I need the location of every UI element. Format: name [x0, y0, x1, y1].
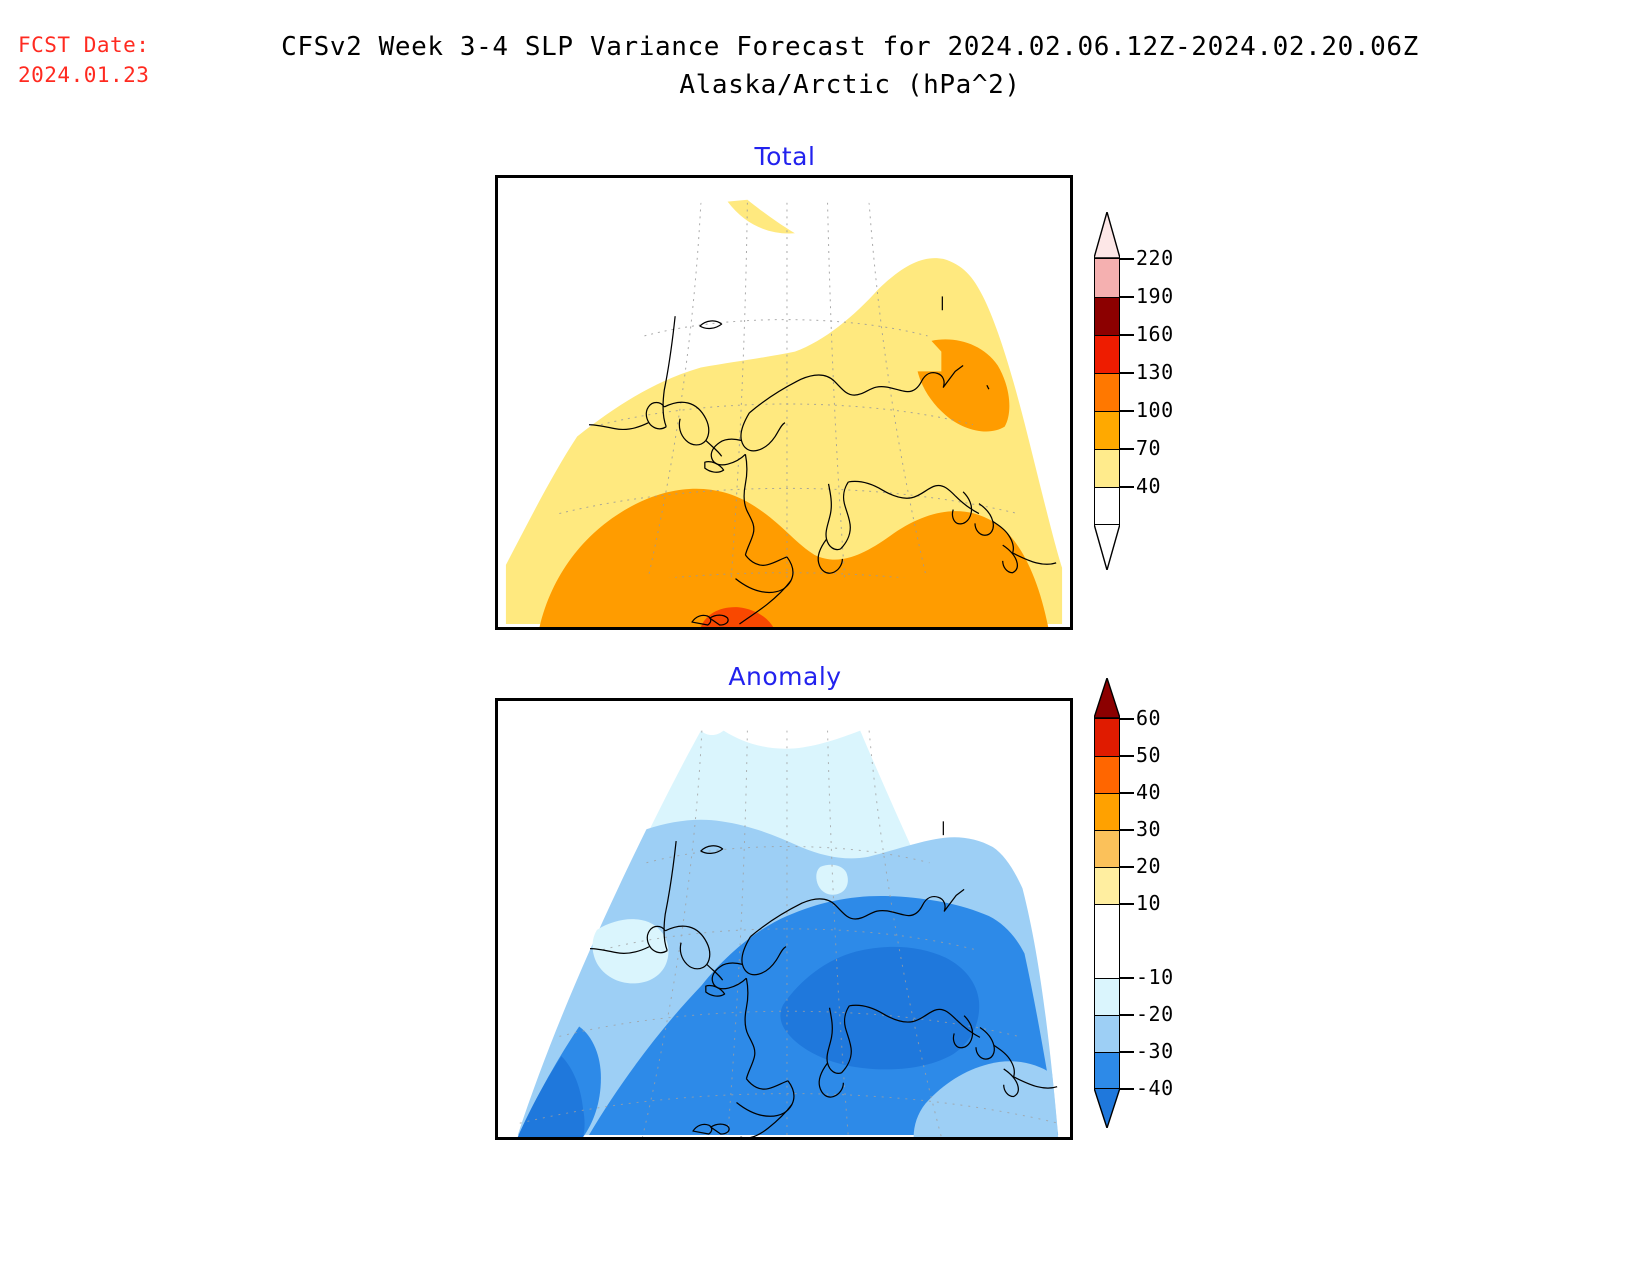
- colorbar-anomaly-label-m10: -10: [1136, 967, 1174, 987]
- colorbar-total-tick-100: [1120, 410, 1134, 412]
- colorbar-total-seg-40-70: [1095, 449, 1119, 487]
- map-total-svg: [498, 178, 1070, 627]
- colorbar-anomaly-label-40: 40: [1136, 782, 1161, 802]
- colorbar-total-tick-190: [1120, 296, 1134, 298]
- forecast-date-label: FCST Date:: [18, 30, 158, 60]
- colorbar-total-label-100: 100: [1136, 400, 1174, 420]
- title-line-1: CFSv2 Week 3-4 SLP Variance Forecast for…: [160, 28, 1540, 66]
- colorbar-anomaly-seg-m20-m10: [1095, 978, 1119, 1015]
- colorbar-anomaly-extend-low: [1094, 1088, 1120, 1128]
- colorbar-anomaly-seg-m40-m30: [1095, 1052, 1119, 1089]
- colorbar-anomaly-seg-m10-10: [1095, 904, 1119, 978]
- colorbar-total-tick-220: [1120, 258, 1134, 260]
- colorbar-anomaly-tick-50: [1120, 755, 1134, 757]
- panel-title-anomaly: Anomaly: [495, 662, 1075, 691]
- colorbar-total-label-70: 70: [1136, 438, 1161, 458]
- colorbar-total-label-40: 40: [1136, 476, 1161, 496]
- forecast-date-value: 2024.01.23: [18, 60, 158, 90]
- colorbar-total-seg-130-160: [1095, 335, 1119, 373]
- map-panel-anomaly: [495, 698, 1073, 1140]
- colorbar-anomaly-tick-m20: [1120, 1014, 1134, 1016]
- colorbar-anomaly-label-60: 60: [1136, 708, 1161, 728]
- colorbar-total-extend-low: [1094, 524, 1120, 570]
- colorbar-anomaly-label-30: 30: [1136, 819, 1161, 839]
- colorbar-anomaly-seg-20-30: [1095, 830, 1119, 867]
- colorbar-total-tick-40: [1120, 486, 1134, 488]
- colorbar-anomaly-label-m30: -30: [1136, 1041, 1174, 1061]
- colorbar-anomaly-label-m40: -40: [1136, 1078, 1174, 1098]
- colorbar-total-label-190: 190: [1136, 286, 1174, 306]
- colorbar-total-seg-190-220: [1095, 259, 1119, 297]
- colorbar-anomaly-seg-10-20: [1095, 867, 1119, 904]
- colorbar-total-seg-70-100: [1095, 411, 1119, 449]
- colorbar-anomaly-tick-m30: [1120, 1051, 1134, 1053]
- colorbar-anomaly-seg-40-50: [1095, 756, 1119, 793]
- colorbar-total-tick-130: [1120, 372, 1134, 374]
- map-panel-total: [495, 175, 1073, 630]
- forecast-date-block: FCST Date: 2024.01.23: [18, 30, 158, 90]
- colorbar-total-seg-below-40: [1095, 487, 1119, 525]
- colorbar-total-label-220: 220: [1136, 248, 1174, 268]
- title-line-2: Alaska/Arctic (hPa^2): [160, 66, 1540, 104]
- colorbar-anomaly-tick-60: [1120, 718, 1134, 720]
- panel-title-total: Total: [495, 142, 1075, 171]
- colorbar-anomaly-seg-50-60: [1095, 719, 1119, 756]
- colorbar-total-seg-100-130: [1095, 373, 1119, 411]
- colorbar-total-tick-70: [1120, 448, 1134, 450]
- colorbar-anomaly-tick-20: [1120, 866, 1134, 868]
- colorbar-total-label-130: 130: [1136, 362, 1174, 382]
- colorbar-total-tick-160: [1120, 334, 1134, 336]
- colorbar-anomaly-tick-30: [1120, 829, 1134, 831]
- colorbar-anomaly-label-10: 10: [1136, 893, 1161, 913]
- map-anomaly-svg: [498, 701, 1070, 1137]
- colorbar-anomaly-bar: [1094, 718, 1120, 1088]
- colorbar-total-bar: [1094, 258, 1120, 524]
- colorbar-total-extend-high: [1094, 212, 1120, 258]
- colorbar-anomaly-tick-m40: [1120, 1088, 1134, 1090]
- colorbar-anomaly-seg-30-40: [1095, 793, 1119, 830]
- colorbar-anomaly-label-50: 50: [1136, 745, 1161, 765]
- colorbar-anomaly-extend-high: [1094, 678, 1120, 718]
- colorbar-anomaly-tick-m10: [1120, 977, 1134, 979]
- colorbar-total-seg-160-190: [1095, 297, 1119, 335]
- colorbar-anomaly-tick-40: [1120, 792, 1134, 794]
- colorbar-anomaly-label-20: 20: [1136, 856, 1161, 876]
- colorbar-anomaly-label-m20: -20: [1136, 1004, 1174, 1024]
- colorbar-anomaly-tick-10: [1120, 903, 1134, 905]
- page-title: CFSv2 Week 3-4 SLP Variance Forecast for…: [160, 28, 1540, 104]
- colorbar-anomaly-seg-m30-m20: [1095, 1015, 1119, 1052]
- colorbar-total-label-160: 160: [1136, 324, 1174, 344]
